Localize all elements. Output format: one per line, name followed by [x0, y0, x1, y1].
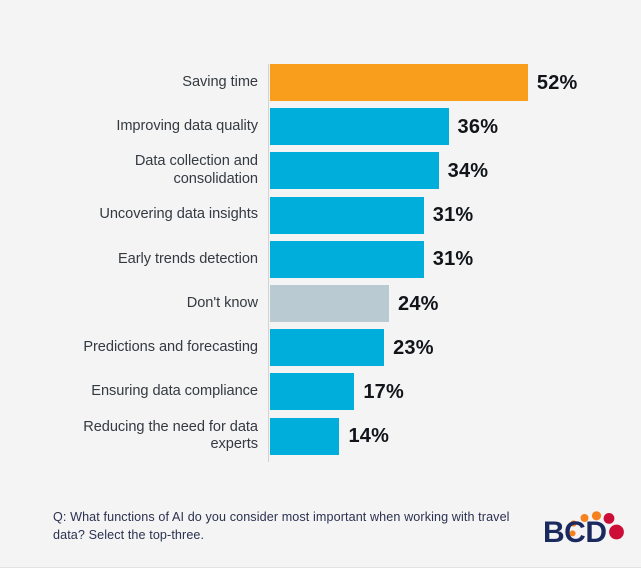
bar-and-value: 17% [270, 373, 404, 410]
category-label: Improving data quality [14, 118, 258, 136]
bar-row: Don't know24% [0, 285, 641, 322]
bar-row: Improving data quality36% [0, 108, 641, 145]
category-label: Don't know [14, 295, 258, 313]
category-label: Ensuring data compliance [14, 383, 258, 401]
bar-row: Uncovering data insights31% [0, 197, 641, 234]
bar [270, 373, 354, 410]
bar-value-label: 17% [363, 382, 404, 402]
bar-value-label: 31% [433, 205, 474, 225]
category-label: Uncovering data insights [14, 206, 258, 224]
category-label: Saving time [14, 74, 258, 92]
bar [270, 329, 384, 366]
bar-and-value: 24% [270, 285, 439, 322]
bar-and-value: 34% [270, 152, 488, 189]
bar-value-label: 24% [398, 294, 439, 314]
bar-value-label: 14% [348, 426, 389, 446]
bar [270, 108, 449, 145]
bar-value-label: 31% [433, 249, 474, 269]
bar-row: Predictions and forecasting23% [0, 329, 641, 366]
category-label: Data collection and consolidation [14, 153, 258, 188]
logo-dot-inner [570, 530, 576, 536]
chart-footnote: Q: What functions of AI do you consider … [53, 508, 531, 544]
bar [270, 197, 424, 234]
bar-value-label: 34% [448, 161, 489, 181]
bar-and-value: 31% [270, 241, 473, 278]
bar-and-value: 31% [270, 197, 473, 234]
bar-and-value: 52% [270, 64, 578, 101]
bar [270, 418, 339, 455]
bar-row: Ensuring data compliance17% [0, 373, 641, 410]
bar-row: Data collection and consolidation34% [0, 152, 641, 189]
bar-value-label: 36% [458, 117, 499, 137]
bar-chart-plot-area: Saving time52%Improving data quality36%D… [0, 64, 641, 462]
chart-container: Saving time52%Improving data quality36%D… [0, 0, 641, 568]
bar-value-label: 23% [393, 338, 434, 358]
bar-value-label: 52% [537, 73, 578, 93]
bar-row: Saving time52% [0, 64, 641, 101]
logo-dot-5 [609, 525, 624, 540]
bar-and-value: 36% [270, 108, 498, 145]
bar [270, 241, 424, 278]
bar [270, 152, 439, 189]
bar-and-value: 23% [270, 329, 434, 366]
bcd-travel-logo: BCD [543, 500, 629, 548]
bar-row: Reducing the need for data experts14% [0, 418, 641, 455]
category-label: Reducing the need for data experts [14, 419, 258, 454]
category-label: Early trends detection [14, 251, 258, 269]
bar [270, 285, 389, 322]
bar-row: Early trends detection31% [0, 241, 641, 278]
bar-and-value: 14% [270, 418, 389, 455]
bar [270, 64, 528, 101]
category-label: Predictions and forecasting [14, 339, 258, 357]
